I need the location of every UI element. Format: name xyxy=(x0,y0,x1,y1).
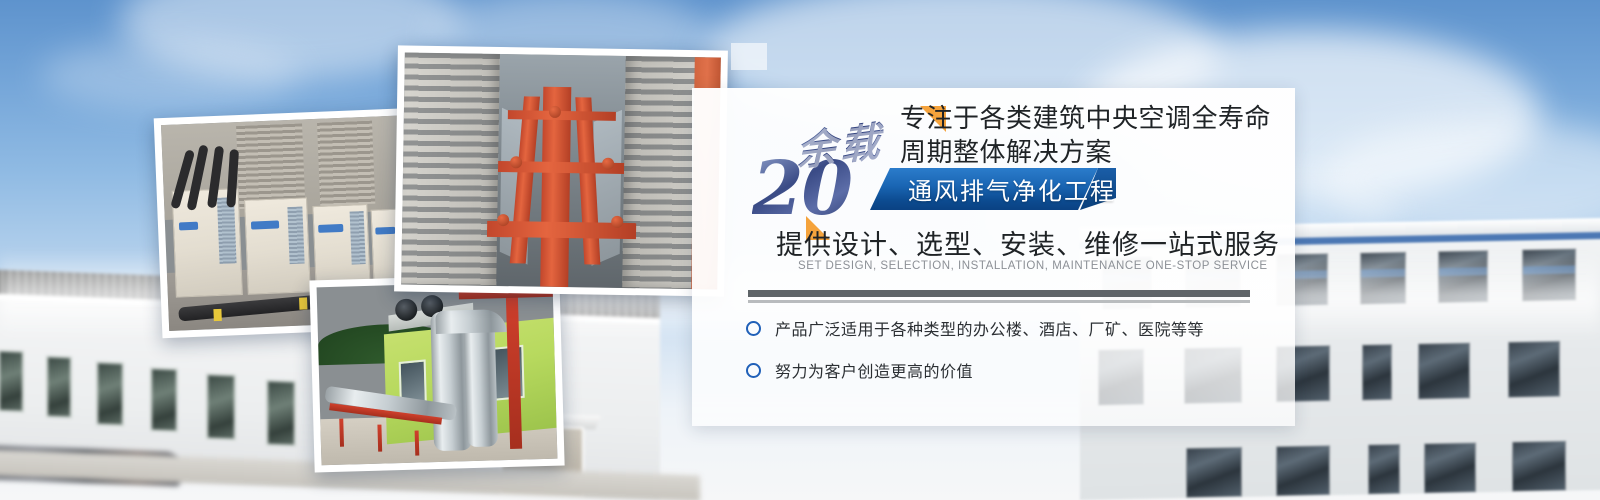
service-subtitle-english: SET DESIGN, SELECTION, INSTALLATION, MAI… xyxy=(798,260,1268,272)
hvac-hero-banner: 20 余载 专注于各类建筑中央空调全寿命周期整体解决方案 通风排气净化工程 提供… xyxy=(0,0,1600,500)
building-window xyxy=(1368,444,1400,495)
bullet-circle-icon xyxy=(746,321,761,336)
content-panel: 20 余载 专注于各类建筑中央空调全寿命周期整体解决方案 通风排气净化工程 提供… xyxy=(692,88,1295,426)
building-window xyxy=(1418,343,1470,400)
photo-red-support-leg xyxy=(377,424,382,451)
photo-red-support-leg xyxy=(339,418,344,447)
building-window xyxy=(266,380,296,447)
building-window xyxy=(46,355,72,418)
ribbon-label: 通风排气净化工程 xyxy=(908,172,1116,207)
feature-list: 产品广泛适用于各种类型的办公楼、酒店、厂矿、医院等等 努力为客户创造更高的价值 xyxy=(746,316,1266,400)
divider-thick xyxy=(748,290,1250,297)
photo-red-pipework xyxy=(401,53,721,290)
building-window xyxy=(1508,341,1560,398)
building-window xyxy=(1512,441,1566,492)
photo-louver xyxy=(236,124,305,209)
building-window xyxy=(1424,442,1476,493)
bullet-circle-icon xyxy=(746,363,761,378)
building-window xyxy=(1362,344,1392,401)
building-window xyxy=(1276,445,1330,496)
building-window xyxy=(150,367,178,432)
photo-valve xyxy=(611,216,623,228)
photo-red-support-leg xyxy=(415,430,420,455)
service-subtitle: 提供设计、选型、安装、维修一站式服务 xyxy=(776,223,1276,262)
divider-thin xyxy=(748,300,1250,303)
photo-pipe-clip xyxy=(214,309,222,321)
divider xyxy=(748,290,1250,303)
photo-pipe-clip xyxy=(299,297,307,309)
photo-chiller-left xyxy=(401,53,499,286)
page-title: 专注于各类建筑中央空调全寿命周期整体解决方案 xyxy=(900,102,1290,171)
list-item: 产品广泛适用于各种类型的办公楼、酒店、厂矿、医院等等 xyxy=(746,316,1266,340)
photo-card-insulated-duct[interactable] xyxy=(309,274,564,473)
photo-duct-elbow xyxy=(435,309,506,334)
building-window xyxy=(1186,447,1242,498)
photo-card-red-pipework[interactable] xyxy=(394,45,728,296)
photo-red-pipe-branch xyxy=(508,110,616,121)
photo-insulated-duct-riser xyxy=(464,314,498,447)
photo-insulated-duct xyxy=(317,281,558,466)
accent-square xyxy=(731,43,767,70)
cloud-shape xyxy=(40,40,300,110)
photo-louver xyxy=(317,121,375,206)
building-window xyxy=(206,373,236,440)
photo-valve xyxy=(497,214,509,226)
photo-hvac-unit xyxy=(244,198,311,295)
list-item-label: 产品广泛适用于各种类型的办公楼、酒店、厂矿、医院等等 xyxy=(775,316,1204,340)
building-window xyxy=(96,361,124,426)
list-item-label: 努力为客户创造更高的价值 xyxy=(775,358,973,382)
list-item: 努力为客户创造更高的价值 xyxy=(746,358,1266,382)
building-window xyxy=(0,350,24,413)
service-ribbon: 通风排气净化工程 xyxy=(870,168,1116,210)
